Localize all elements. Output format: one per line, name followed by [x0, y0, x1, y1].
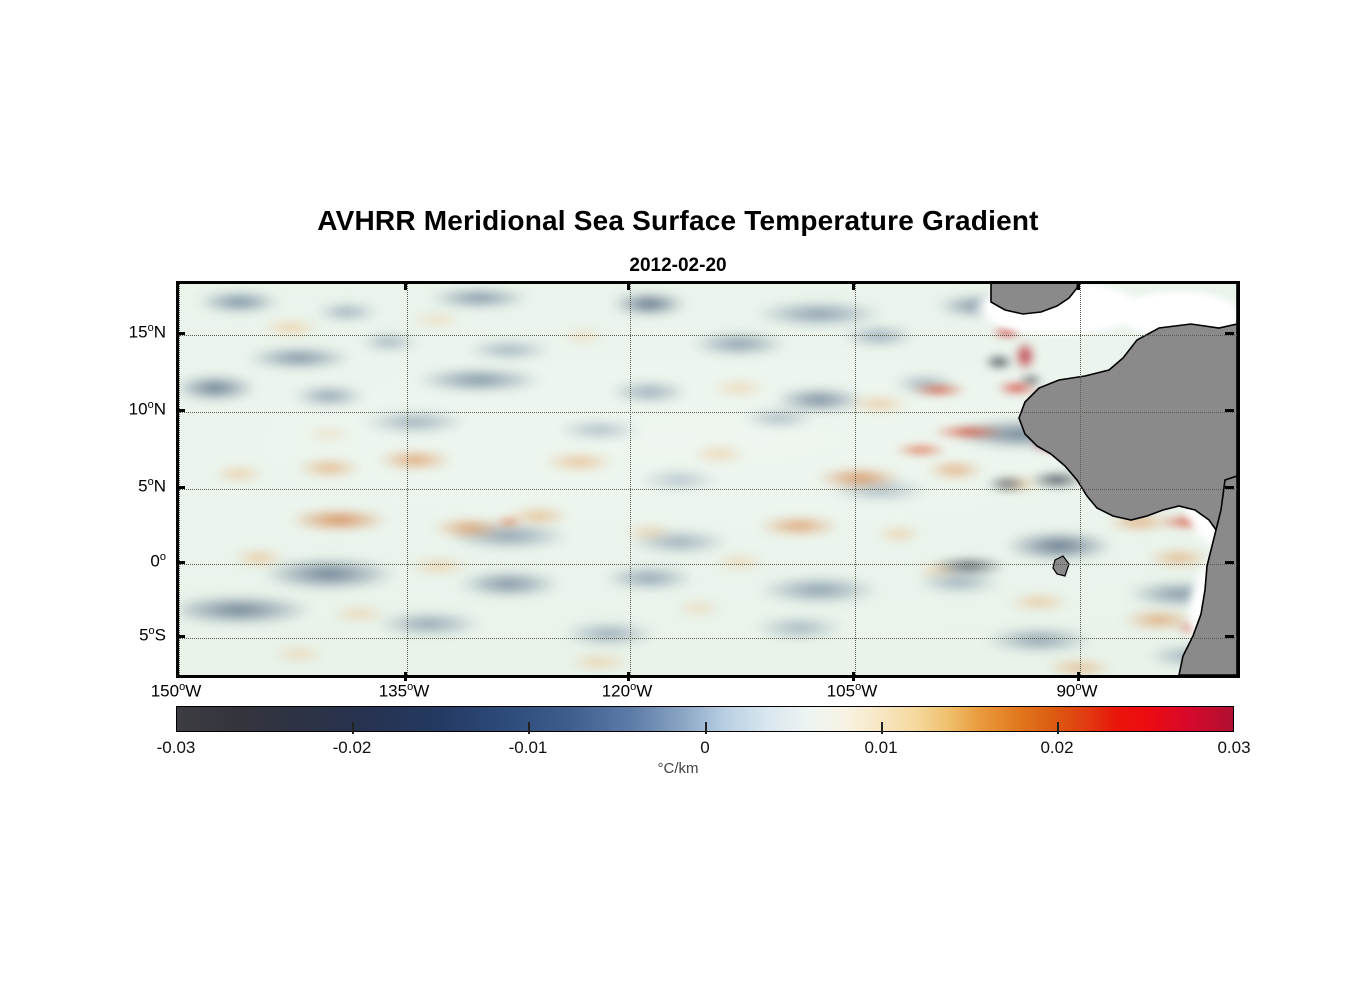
cblabel--0.03: -0.03 [131, 738, 221, 758]
xtick-top-120w [627, 281, 630, 290]
cblabel-0.03: 0.03 [1189, 738, 1279, 758]
xlabel-135w: 135oW [359, 681, 449, 702]
gridline-lon-135w [407, 284, 408, 675]
ylabel-5n: 5oN [86, 476, 166, 497]
xtick-135w [404, 672, 407, 681]
gridline-lat-0 [179, 564, 1237, 565]
gridline-lat-5n [179, 489, 1237, 490]
ytick-right-0 [1225, 561, 1234, 564]
land-mass-central-america [179, 284, 1237, 675]
cblabel-0.02: 0.02 [1012, 738, 1102, 758]
xtick-120w [627, 672, 630, 681]
gridline-lon-120w [630, 284, 631, 675]
cbtick-0 [705, 722, 707, 734]
cblabel--0.02: -0.02 [307, 738, 397, 758]
ylabel-0: 0o [86, 551, 166, 572]
cblabel--0.01: -0.01 [483, 738, 573, 758]
gridline-lon-105w [855, 284, 856, 675]
cbtick--0.01 [528, 722, 530, 734]
colorbar-unit-label: °C/km [0, 760, 1356, 777]
chart-title: AVHRR Meridional Sea Surface Temperature… [0, 205, 1356, 237]
xtick-top-135w [404, 281, 407, 290]
ytick-5s [176, 635, 185, 638]
ytick-15n [176, 332, 185, 335]
ylabel-10n: 10oN [86, 399, 166, 420]
gridline-lat-15n [179, 335, 1237, 336]
ylabel-5s: 5oS [86, 625, 166, 646]
ylabel-15n: 15oN [86, 322, 166, 343]
cbtick-0.02 [1057, 722, 1059, 734]
xlabel-90w: 90oW [1032, 681, 1122, 702]
xtick-top-105w [852, 281, 855, 290]
xlabel-150w: 150oW [131, 681, 221, 702]
cbtick-0.01 [881, 722, 883, 734]
xtick-105w [852, 672, 855, 681]
ytick-right-5n [1225, 486, 1234, 489]
gridline-lat-5s [179, 638, 1237, 639]
xlabel-120w: 120oW [582, 681, 672, 702]
xtick-top-90w [1077, 281, 1080, 290]
ytick-right-15n [1225, 332, 1234, 335]
gridline-lon-90w [1080, 284, 1081, 675]
ytick-right-5s [1225, 635, 1234, 638]
gridline-lon-150w [179, 284, 180, 675]
cbtick--0.02 [352, 722, 354, 734]
ytick-0 [176, 561, 185, 564]
ytick-10n [176, 409, 185, 412]
chart-subtitle: 2012-02-20 [0, 255, 1356, 277]
cblabel-0: 0 [660, 738, 750, 758]
xlabel-105w: 105oW [807, 681, 897, 702]
ytick-5n [176, 486, 185, 489]
xtick-90w [1077, 672, 1080, 681]
ytick-right-10n [1225, 409, 1234, 412]
cblabel-0.01: 0.01 [836, 738, 926, 758]
gridline-lat-10n [179, 412, 1237, 413]
map-plot-area[interactable] [176, 281, 1240, 678]
